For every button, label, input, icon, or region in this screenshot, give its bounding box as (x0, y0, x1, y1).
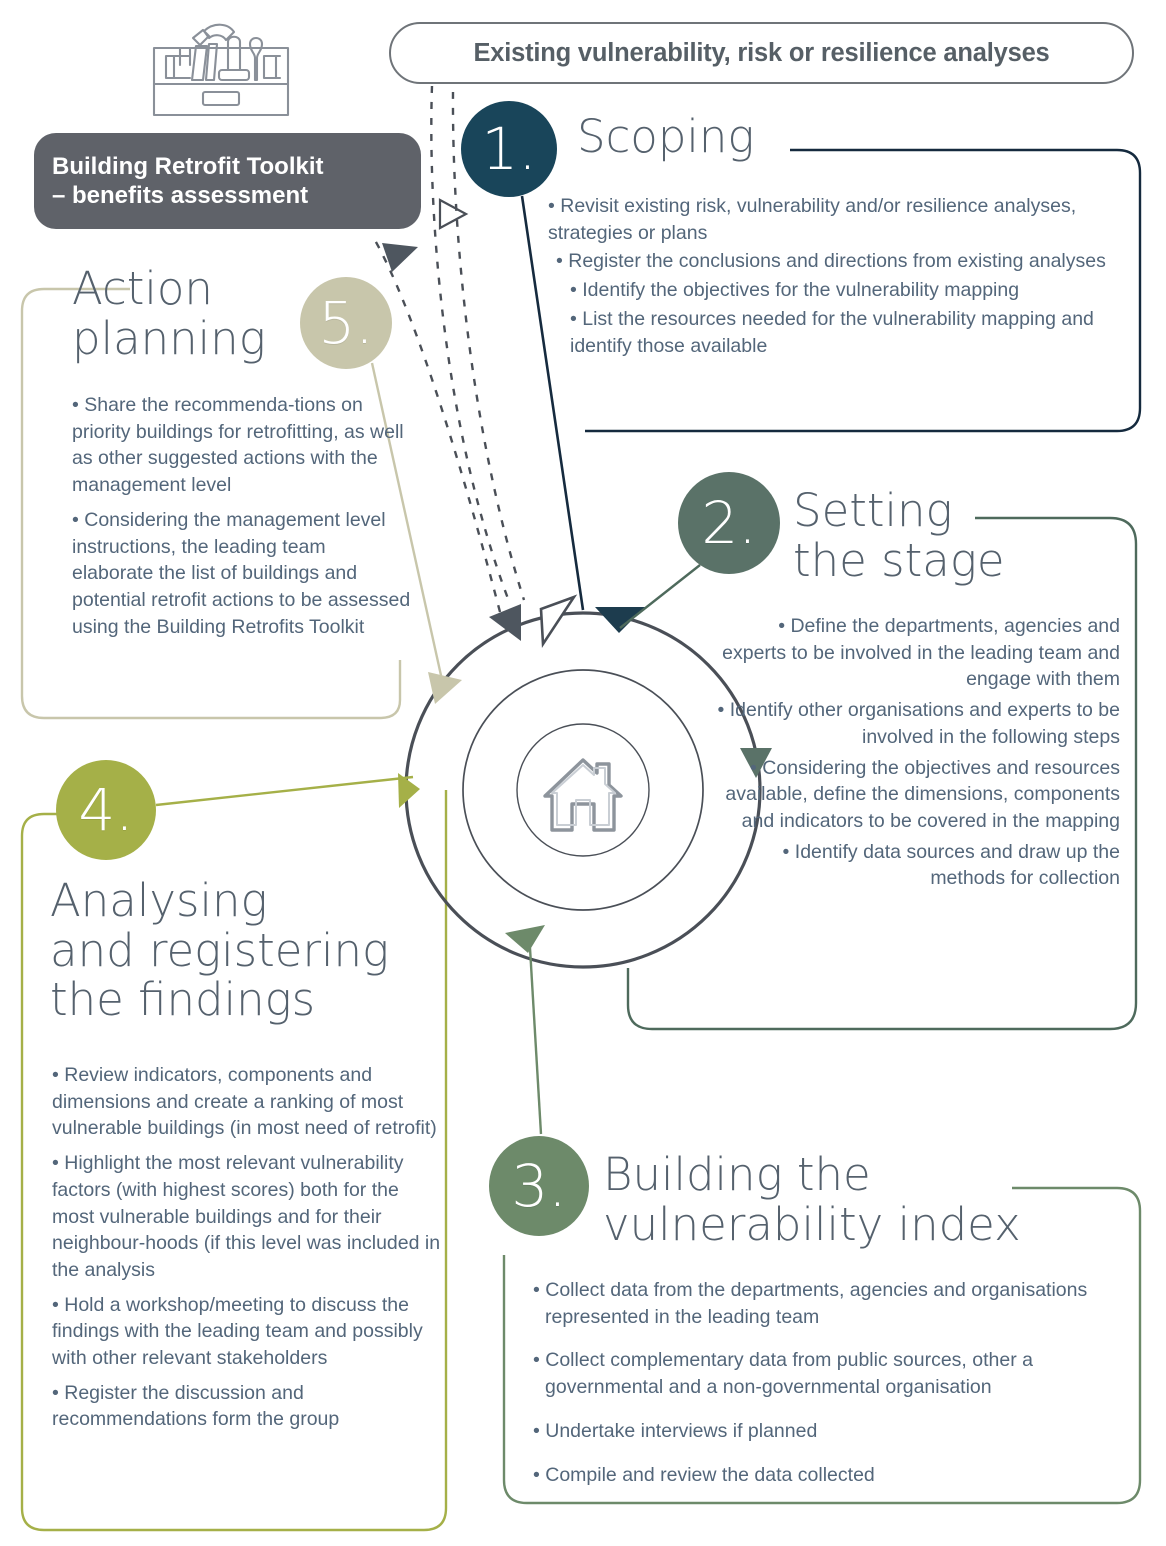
brand-line-1: Building Retrofit Toolkit (52, 152, 403, 181)
brand-badge: Building Retrofit Toolkit – benefits ass… (34, 133, 421, 229)
bullet: • Collect complementary data from public… (533, 1347, 1123, 1400)
step-number-5[interactable]: 5. (300, 277, 392, 369)
step-number-4-label: 4. (78, 781, 133, 839)
bullet: • List the resources needed for the vuln… (548, 306, 1118, 359)
banner-pill: Existing vulnerability, risk or resilien… (389, 22, 1134, 84)
house-icon (545, 760, 621, 830)
step-number-2[interactable]: 2. (678, 472, 780, 574)
brand-line-2: – benefits assessment (52, 181, 403, 210)
step-bullets-1: • Revisit existing risk, vulnerability a… (548, 193, 1118, 361)
step-number-5-label: 5. (318, 294, 373, 352)
bullet: • Collect data from the departments, age… (533, 1277, 1123, 1330)
dashed-hollow-arrowhead (440, 200, 466, 228)
ring-arrow-olive (398, 773, 420, 808)
bullet: • Register the discussion and recommenda… (52, 1380, 442, 1433)
step-number-4[interactable]: 4. (56, 760, 156, 860)
bullet: • Considering the management level instr… (72, 507, 412, 641)
bullet: • Define the departments, agencies and e… (710, 613, 1120, 693)
step-number-3[interactable]: 3. (489, 1136, 589, 1236)
step-number-1[interactable]: 1. (461, 101, 557, 197)
bullet: • Considering the objectives and resourc… (710, 755, 1120, 835)
leader-step2-top (620, 565, 700, 628)
bullet: • Compile and review the data collected (533, 1462, 1123, 1489)
step-title-2: Setting the stage (793, 486, 1005, 585)
bullet: • Identify data sources and draw up the … (710, 839, 1120, 892)
outer-ring (406, 613, 760, 967)
bullet: • Undertake interviews if planned (533, 1418, 1123, 1445)
bullet: • Highlight the most relevant vulnerabil… (52, 1150, 442, 1284)
ring-arrow-khaki (428, 672, 462, 704)
step-bullets-4: • Review indicators, components and dime… (52, 1062, 442, 1441)
bullet: • Identify the objectives for the vulner… (548, 277, 1118, 304)
step-title-4: Analysing and registering the findings (50, 876, 389, 1025)
step-bullets-3: • Collect data from the departments, age… (533, 1277, 1123, 1505)
bullet: • Revisit existing risk, vulnerability a… (548, 193, 1118, 246)
ring-arrow-teal (595, 607, 645, 633)
step-bullets-2: • Define the departments, agencies and e… (710, 613, 1120, 896)
bullet: • Identify other organisations and exper… (710, 697, 1120, 750)
leader-step3 (530, 948, 541, 1134)
ring-arrow-sage (505, 925, 545, 953)
middle-ring (463, 670, 703, 910)
bullet: • Register the conclusions and direction… (548, 248, 1118, 275)
banner-title: Existing vulnerability, risk or resilien… (473, 39, 1049, 68)
inner-ring (517, 724, 649, 856)
bullet: • Review indicators, components and dime… (52, 1062, 442, 1142)
step-title-5: Action planning (72, 264, 266, 363)
step-number-3-label: 3. (511, 1157, 566, 1215)
step-number-1-label: 1. (481, 120, 536, 178)
leader-step4 (156, 777, 413, 805)
step-number-2-label: 2. (701, 494, 756, 552)
bullet: • Hold a workshop/meeting to discuss the… (52, 1292, 442, 1372)
step-title-3: Building the vulnerability index (603, 1150, 1021, 1249)
ring-arrow-hollow (541, 597, 574, 644)
dashed-brand-arrowhead (382, 243, 418, 272)
step-title-1: Scoping (577, 112, 754, 162)
bullet: • Share the recommenda-tions on priority… (72, 392, 412, 499)
ring-arrow-grey (489, 604, 521, 641)
diagram-canvas: Existing vulnerability, risk or resilien… (0, 0, 1166, 1546)
toolbox-icon (146, 18, 296, 122)
step-bullets-5: • Share the recommenda-tions on priority… (72, 392, 412, 648)
